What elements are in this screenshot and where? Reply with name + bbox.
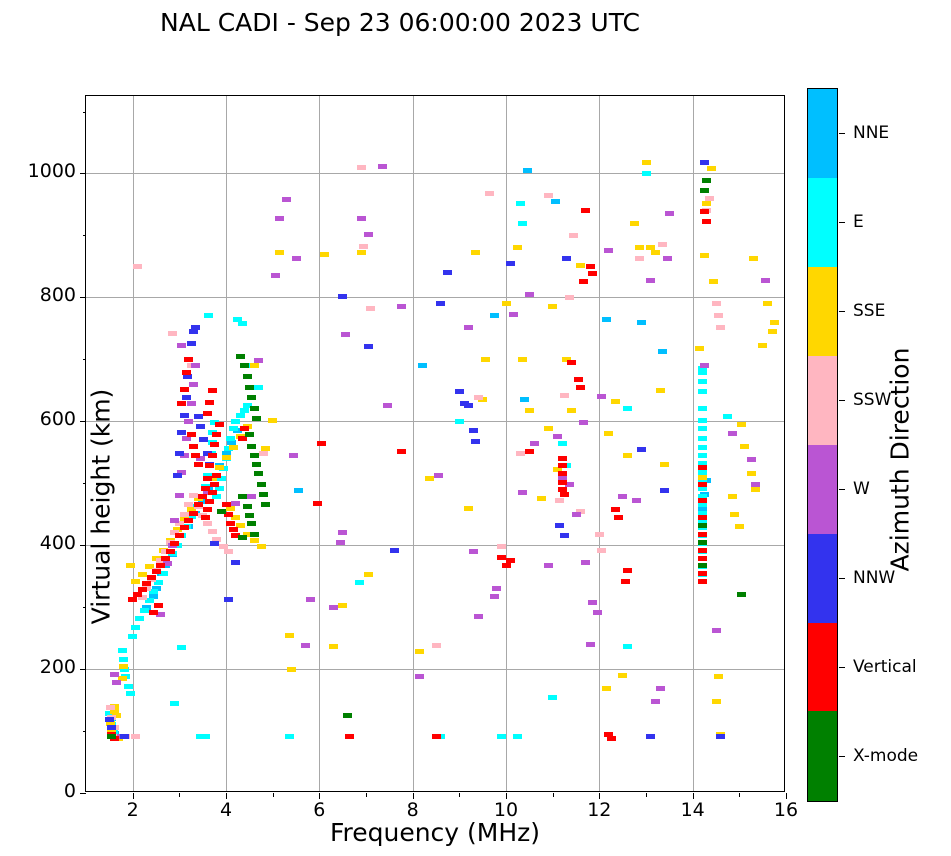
echo-point — [231, 419, 240, 424]
echo-point — [548, 304, 557, 309]
echo-point — [490, 594, 499, 599]
echo-point — [205, 400, 214, 405]
echo-point — [212, 432, 221, 437]
echo-point — [212, 473, 221, 478]
echo-point — [250, 532, 259, 537]
echo-point — [471, 439, 480, 444]
echo-point — [581, 560, 590, 565]
echo-point — [259, 451, 268, 456]
echo-point — [133, 264, 142, 269]
echo-point — [275, 216, 284, 221]
echo-point — [231, 560, 240, 565]
echo-point — [189, 511, 198, 516]
echo-point — [226, 521, 235, 526]
echo-point — [194, 502, 203, 507]
echo-point — [646, 734, 655, 739]
echo-point — [329, 605, 338, 610]
echo-point — [604, 431, 613, 436]
echo-point — [560, 492, 569, 497]
echo-point — [492, 586, 501, 591]
y-tick-label: 0 — [6, 780, 76, 802]
echo-point — [247, 395, 256, 400]
figure-title: NAL CADI - Sep 23 06:00:00 2023 UTC — [0, 8, 800, 37]
y-tick — [80, 297, 86, 298]
echo-point — [434, 473, 443, 478]
colorbar-segment-nnw — [808, 534, 837, 623]
echo-point — [698, 502, 707, 507]
echo-point — [175, 533, 184, 538]
echo-point — [138, 587, 147, 592]
echo-point — [187, 341, 196, 346]
echo-point — [562, 256, 571, 261]
echo-point — [436, 301, 445, 306]
y-tick-minor — [83, 483, 87, 484]
echo-point — [119, 657, 128, 662]
echo-point — [170, 701, 179, 706]
echo-point — [229, 527, 238, 532]
echo-point — [189, 493, 198, 498]
echo-point — [118, 648, 127, 653]
echo-point — [660, 488, 669, 493]
colorbar-segment-e — [808, 178, 837, 267]
echo-point — [642, 171, 651, 176]
echo-point — [516, 201, 525, 206]
colorbar-title: Azimuth Direction — [886, 180, 915, 740]
echo-point — [579, 279, 588, 284]
echo-point — [502, 301, 511, 306]
echo-point — [537, 496, 546, 501]
echo-point — [285, 734, 294, 739]
echo-point — [338, 603, 347, 608]
echo-point — [656, 686, 665, 691]
echo-point — [425, 476, 434, 481]
colorbar-tick — [839, 133, 845, 134]
echo-point — [698, 389, 707, 394]
echo-point — [250, 363, 259, 368]
echo-point — [247, 444, 256, 449]
echo-point — [588, 271, 597, 276]
echo-point — [238, 535, 247, 540]
echo-point — [698, 556, 707, 561]
echo-point — [189, 382, 198, 387]
echo-point — [698, 418, 707, 423]
ionogram-figure: NAL CADI - Sep 23 06:00:00 2023 UTC 2468… — [0, 0, 951, 856]
echo-point — [383, 403, 392, 408]
echo-point — [597, 548, 606, 553]
echo-point — [560, 393, 569, 398]
echo-point — [607, 736, 616, 741]
echo-point — [567, 408, 576, 413]
y-tick-label: 600 — [6, 408, 76, 430]
echo-point — [698, 453, 707, 458]
echo-point — [751, 487, 760, 492]
echo-point — [555, 498, 564, 503]
echo-point — [518, 357, 527, 362]
echo-point — [611, 507, 620, 512]
echo-point — [210, 541, 219, 546]
echo-point — [747, 457, 756, 462]
echo-point — [320, 252, 329, 257]
echo-point — [204, 313, 213, 318]
echo-point — [229, 445, 238, 450]
colorbar-tick — [839, 311, 845, 312]
echo-point — [530, 441, 539, 446]
echo-point — [763, 301, 772, 306]
echo-point — [180, 387, 189, 392]
echo-point — [135, 616, 144, 621]
echo-point — [618, 494, 627, 499]
echo-point — [604, 248, 613, 253]
echo-point — [238, 494, 247, 499]
echo-point — [714, 313, 723, 318]
echo-point — [142, 581, 151, 586]
echo-point — [180, 525, 189, 530]
echo-point — [518, 490, 527, 495]
echo-point — [245, 385, 254, 390]
echo-point — [175, 493, 184, 498]
echo-point — [651, 250, 660, 255]
echo-point — [208, 490, 217, 495]
echo-point — [126, 563, 135, 568]
echo-point — [698, 475, 707, 480]
echo-point — [506, 558, 515, 563]
echo-point — [637, 320, 646, 325]
echo-point — [663, 256, 672, 261]
echo-point — [502, 563, 511, 568]
echo-point — [702, 219, 711, 224]
y-axis-title: Virtual height (km) — [87, 227, 116, 787]
echo-point — [586, 642, 595, 647]
echo-point — [544, 193, 553, 198]
echo-point — [397, 449, 406, 454]
echo-point — [397, 304, 406, 309]
echo-point — [378, 164, 387, 169]
echo-point — [700, 363, 709, 368]
echo-point — [138, 572, 147, 577]
echo-point — [187, 432, 196, 437]
y-tick-minor — [83, 607, 87, 608]
echo-point — [523, 168, 532, 173]
echo-point — [553, 434, 562, 439]
colorbar-label-e: E — [853, 212, 864, 232]
echo-point — [520, 397, 529, 402]
echo-point — [182, 395, 191, 400]
echo-point — [364, 344, 373, 349]
echo-point — [336, 540, 345, 545]
echo-point — [635, 256, 644, 261]
echo-point — [751, 482, 760, 487]
echo-point — [390, 548, 399, 553]
echo-point — [728, 494, 737, 499]
y-tick-minor — [83, 731, 87, 732]
echo-point — [240, 408, 249, 413]
colorbar-tick — [839, 756, 845, 757]
echo-point — [516, 451, 525, 456]
echo-point — [632, 498, 641, 503]
echo-point — [595, 532, 604, 537]
echo-point — [497, 544, 506, 549]
echo-point — [271, 273, 280, 278]
echo-point — [586, 264, 595, 269]
echo-point — [208, 453, 217, 458]
echo-point — [203, 411, 212, 416]
y-tick — [80, 173, 86, 174]
y-tick-label: 400 — [6, 532, 76, 554]
echo-point — [618, 673, 627, 678]
echo-point — [768, 329, 777, 334]
echo-point — [455, 419, 464, 424]
echo-point — [364, 232, 373, 237]
echo-point — [656, 388, 665, 393]
echo-point — [177, 430, 186, 435]
echo-point — [257, 544, 266, 549]
echo-point — [735, 524, 744, 529]
echo-point — [630, 221, 639, 226]
echo-point — [698, 482, 707, 487]
echo-point — [177, 343, 186, 348]
x-tick-minor — [739, 793, 740, 797]
echo-point — [131, 734, 140, 739]
echo-point — [180, 413, 189, 418]
echo-point — [329, 644, 338, 649]
echo-point — [702, 201, 711, 206]
colorbar-segment-ssw — [808, 356, 837, 445]
echo-point — [623, 406, 632, 411]
echo-point — [147, 575, 156, 580]
echo-point — [357, 216, 366, 221]
echo-point — [700, 188, 709, 193]
x-tick-minor — [646, 793, 647, 797]
echo-point — [588, 600, 597, 605]
echo-point — [345, 734, 354, 739]
echo-point — [551, 199, 560, 204]
echo-point — [287, 667, 296, 672]
echo-point — [182, 370, 191, 375]
echo-point — [231, 501, 240, 506]
y-tick — [80, 421, 86, 422]
echo-point — [313, 501, 322, 506]
echo-point — [259, 492, 268, 497]
echo-point — [471, 250, 480, 255]
echo-point — [698, 532, 707, 537]
colorbar-label-x-mode: X-mode — [853, 746, 918, 766]
echo-point — [525, 292, 534, 297]
x-tick-minor — [179, 793, 180, 797]
y-tick-minor — [83, 235, 87, 236]
echo-point — [355, 580, 364, 585]
echo-point — [203, 507, 212, 512]
echo-point — [194, 462, 203, 467]
echo-point — [698, 436, 707, 441]
echo-point — [184, 357, 193, 362]
echo-point — [747, 471, 756, 476]
echo-point — [569, 233, 578, 238]
echo-point — [623, 453, 632, 458]
echo-point — [665, 211, 674, 216]
echo-point — [224, 597, 233, 602]
y-tick-minor — [83, 112, 87, 113]
echo-point — [761, 278, 770, 283]
echo-point — [243, 374, 252, 379]
echo-point — [418, 363, 427, 368]
echo-point — [338, 294, 347, 299]
echo-point — [544, 563, 553, 568]
echo-point — [700, 160, 709, 165]
echo-point — [240, 426, 249, 431]
echo-point — [199, 437, 208, 442]
echo-point — [201, 515, 210, 520]
colorbar-segment-w — [808, 445, 837, 534]
echo-point — [254, 358, 263, 363]
echo-point — [698, 515, 707, 520]
echo-point — [194, 414, 203, 419]
echo-point — [555, 523, 564, 528]
echo-point — [222, 455, 231, 460]
echo-point — [658, 242, 667, 247]
x-axis-title: Frequency (MHz) — [85, 818, 785, 847]
echo-point — [128, 597, 137, 602]
echo-point — [343, 713, 352, 718]
echo-point — [432, 643, 441, 648]
echo-point — [119, 664, 128, 669]
echo-point — [567, 360, 576, 365]
echo-point — [469, 428, 478, 433]
echo-point — [716, 325, 725, 330]
echo-point — [485, 191, 494, 196]
echo-point — [243, 504, 252, 509]
echo-point — [208, 529, 217, 534]
echo-point — [215, 422, 224, 427]
echo-point — [525, 449, 534, 454]
echo-point — [642, 160, 651, 165]
echo-point — [548, 695, 557, 700]
echo-point — [506, 261, 515, 266]
echo-point — [611, 399, 620, 404]
echo-point — [474, 614, 483, 619]
echo-point — [236, 354, 245, 359]
echo-point — [474, 395, 483, 400]
echo-point — [490, 313, 499, 318]
echo-point — [268, 418, 277, 423]
echo-point — [698, 379, 707, 384]
echo-point — [154, 603, 163, 608]
echo-point — [301, 643, 310, 648]
echo-point — [294, 488, 303, 493]
echo-point — [215, 465, 224, 470]
echo-point — [560, 533, 569, 538]
echo-point — [173, 473, 182, 478]
echo-point — [513, 734, 522, 739]
y-tick-label: 200 — [6, 656, 76, 678]
plot-area: 24681012141602004006008001000 Virtual he… — [85, 95, 785, 792]
echo-point — [238, 321, 247, 326]
echo-point — [464, 325, 473, 330]
echo-point — [189, 444, 198, 449]
colorbar-label-w: W — [853, 479, 870, 499]
echo-point — [224, 549, 233, 554]
echo-point — [166, 549, 175, 554]
colorbar-label-sse: SSE — [853, 301, 885, 321]
echo-point — [740, 444, 749, 449]
echo-point — [758, 343, 767, 348]
echo-point — [621, 579, 630, 584]
echo-point — [247, 494, 256, 499]
echo-point — [366, 306, 375, 311]
echo-point — [698, 571, 707, 576]
echo-point — [709, 279, 718, 284]
y-tick — [80, 793, 86, 794]
colorbar-tick — [839, 667, 845, 668]
echo-point — [226, 436, 235, 441]
echo-point — [289, 453, 298, 458]
echo-point — [184, 518, 193, 523]
echo-point — [254, 385, 263, 390]
echo-point — [712, 699, 721, 704]
echo-point — [705, 196, 714, 201]
echo-point — [131, 579, 140, 584]
echo-point — [357, 165, 366, 170]
echo-point — [217, 509, 226, 514]
colorbar-segment-sse — [808, 267, 837, 356]
echo-point — [170, 518, 179, 523]
echo-point — [443, 270, 452, 275]
echo-point — [128, 634, 137, 639]
echo-point — [191, 453, 200, 458]
colorbar-segment-vertical — [808, 623, 837, 712]
echo-point — [602, 317, 611, 322]
echo-point — [707, 166, 716, 171]
echo-point — [149, 610, 158, 615]
echo-point — [341, 332, 350, 337]
echo-point — [660, 462, 669, 467]
echo-point — [184, 419, 193, 424]
echo-point — [700, 209, 709, 214]
y-tick-label: 800 — [6, 284, 76, 306]
echo-point — [261, 502, 270, 507]
echo-point — [544, 426, 553, 431]
echo-point — [168, 331, 177, 336]
echo-point — [497, 734, 506, 739]
x-tick-minor — [553, 793, 554, 797]
echo-point — [737, 592, 746, 597]
echo-point — [635, 245, 644, 250]
echo-point — [126, 691, 135, 696]
echo-point — [208, 388, 217, 393]
echo-point — [712, 628, 721, 633]
echo-point — [700, 253, 709, 258]
echo-point — [240, 363, 249, 368]
echo-point — [203, 521, 212, 526]
echo-point — [558, 463, 567, 468]
echo-point — [252, 416, 261, 421]
echo-point — [245, 513, 254, 518]
echo-point — [285, 633, 294, 638]
colorbar-segment-x-mode — [808, 711, 837, 800]
echo-point — [716, 734, 725, 739]
echo-point — [464, 506, 473, 511]
echo-point — [737, 422, 746, 427]
echo-point — [205, 499, 214, 504]
y-tick — [80, 545, 86, 546]
colorbar-segment-nne — [808, 89, 837, 178]
echo-point — [597, 394, 606, 399]
echo-point — [497, 555, 506, 560]
echo-point — [565, 295, 574, 300]
echo-point — [558, 441, 567, 446]
echo-point — [712, 301, 721, 306]
echo-point — [357, 250, 366, 255]
echo-point — [698, 579, 707, 584]
